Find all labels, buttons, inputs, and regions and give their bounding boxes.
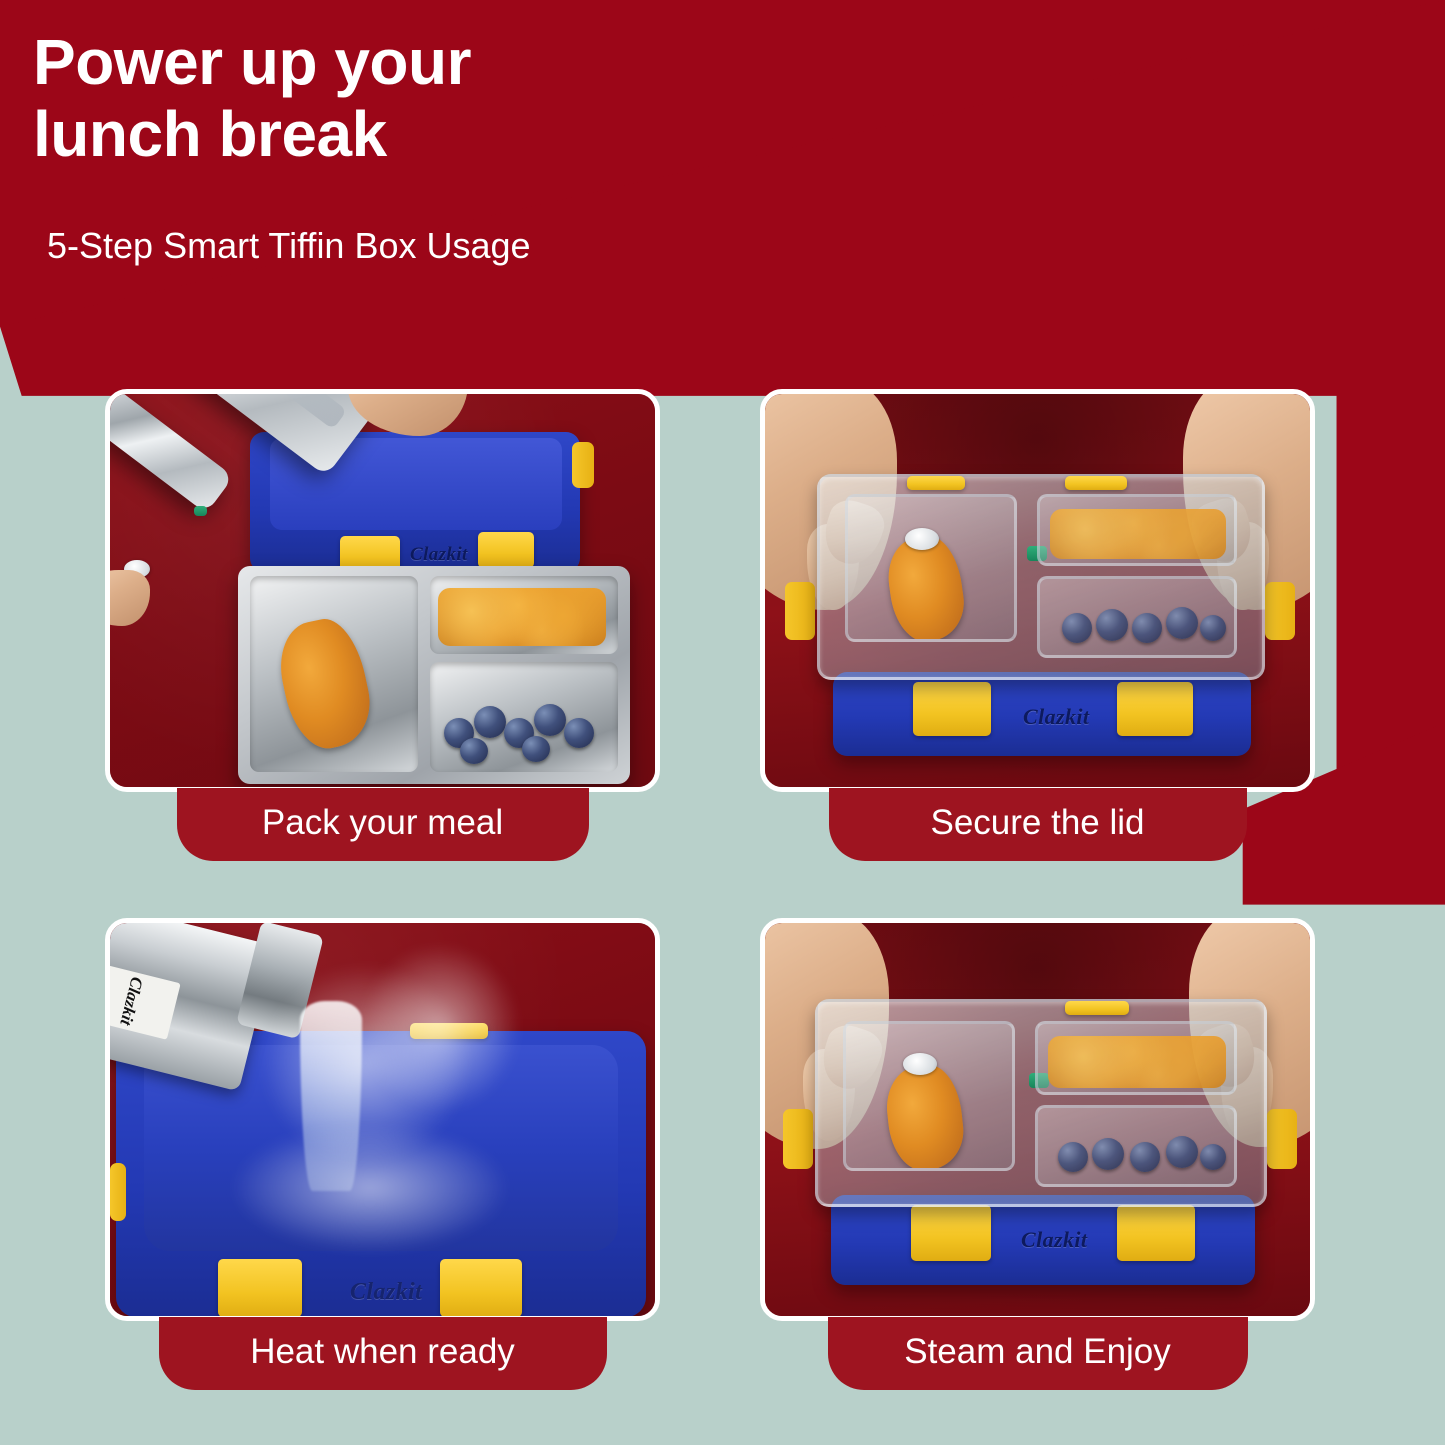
step-4-caption-banner: Steam and Enjoy <box>828 1317 1248 1390</box>
berry <box>1200 615 1226 641</box>
lid-vent-knob <box>903 1053 937 1075</box>
step-2-caption-banner: Secure the lid <box>829 788 1247 861</box>
lid-vent-knob <box>905 528 939 550</box>
food-crumbed-snack <box>438 588 606 646</box>
front-latch-right <box>478 532 534 568</box>
tray-cell-berries <box>430 662 618 772</box>
berry <box>1096 609 1128 641</box>
box-brand-label: Clazkit <box>1023 704 1089 730</box>
step-1-caption-banner: Pack your meal <box>177 788 589 861</box>
lid-cell-chicken <box>843 1021 1015 1171</box>
tray-cell-crumbs <box>430 576 618 654</box>
lid-cell-berries <box>1035 1105 1237 1187</box>
lid-cell-crumbs <box>1037 494 1237 566</box>
lid-green-indicator <box>194 506 207 516</box>
tray-cell-chicken <box>250 576 418 772</box>
side-latch-left <box>785 582 815 640</box>
berry <box>1166 607 1198 639</box>
step-card-4: Clazkit <box>760 918 1315 1390</box>
berry <box>1132 613 1162 643</box>
food-fried-chicken <box>272 613 379 755</box>
box-brand-label: Clazkit <box>1021 1227 1087 1253</box>
front-latch-left <box>911 1205 991 1261</box>
step-3-caption-text: Heat when ready <box>250 1334 515 1373</box>
step-card-2: Clazkit <box>760 389 1315 861</box>
side-latch-right <box>1265 582 1295 640</box>
berry <box>474 706 506 738</box>
berry <box>460 738 488 764</box>
berry <box>1200 1144 1226 1170</box>
berry <box>522 736 550 762</box>
promo-infographic: Power up your lunch break 5-Step Smart T… <box>0 0 1445 1445</box>
berry <box>534 704 566 736</box>
food-crumbed-snack <box>1048 1036 1226 1088</box>
step-4-caption-text: Steam and Enjoy <box>904 1334 1171 1373</box>
side-latch-right <box>1267 1109 1297 1169</box>
front-latch-right <box>1117 682 1193 736</box>
front-latch-right <box>440 1259 522 1316</box>
lid-cell-chicken <box>845 494 1017 642</box>
lid-cell-crumbs <box>1035 1021 1237 1095</box>
steam-plume-2 <box>360 943 520 1113</box>
step-1-caption-text: Pack your meal <box>262 805 503 844</box>
berry <box>1092 1138 1124 1170</box>
step-2-caption-text: Secure the lid <box>930 805 1144 844</box>
food-crumbed-snack <box>1050 509 1226 559</box>
side-latch-left <box>783 1109 813 1169</box>
top-latch-left <box>907 476 965 490</box>
berry <box>1058 1142 1088 1172</box>
step-3-photo: Clazkit Clazkit <box>105 918 660 1321</box>
step-card-3: Clazkit Clazkit Heat when ready <box>105 918 660 1390</box>
box-brand-label: Clazkit <box>410 544 468 566</box>
step-3-caption-banner: Heat when ready <box>159 1317 607 1390</box>
steam-plume-3 <box>230 1123 510 1253</box>
step-card-1: Clazkit <box>105 389 660 861</box>
step-1-photo: Clazkit <box>105 389 660 792</box>
food-fried-chicken <box>883 1062 967 1171</box>
front-latch-right <box>1117 1205 1195 1261</box>
front-latch-left <box>218 1259 302 1316</box>
box-brand-label: Clazkit <box>350 1279 422 1306</box>
top-latch-right <box>1065 1001 1129 1015</box>
lid-cell-berries <box>1037 576 1237 658</box>
berry <box>1062 613 1092 643</box>
front-latch-left <box>913 682 991 736</box>
side-latch-right <box>572 442 594 488</box>
step-4-photo: Clazkit <box>760 918 1315 1321</box>
berry <box>1166 1136 1198 1168</box>
berry <box>1130 1142 1160 1172</box>
top-latch-right <box>1065 476 1127 490</box>
steps-grid: Clazkit <box>0 0 1445 1445</box>
step-2-photo: Clazkit <box>760 389 1315 792</box>
side-latch-left <box>110 1163 126 1221</box>
berry <box>564 718 594 748</box>
